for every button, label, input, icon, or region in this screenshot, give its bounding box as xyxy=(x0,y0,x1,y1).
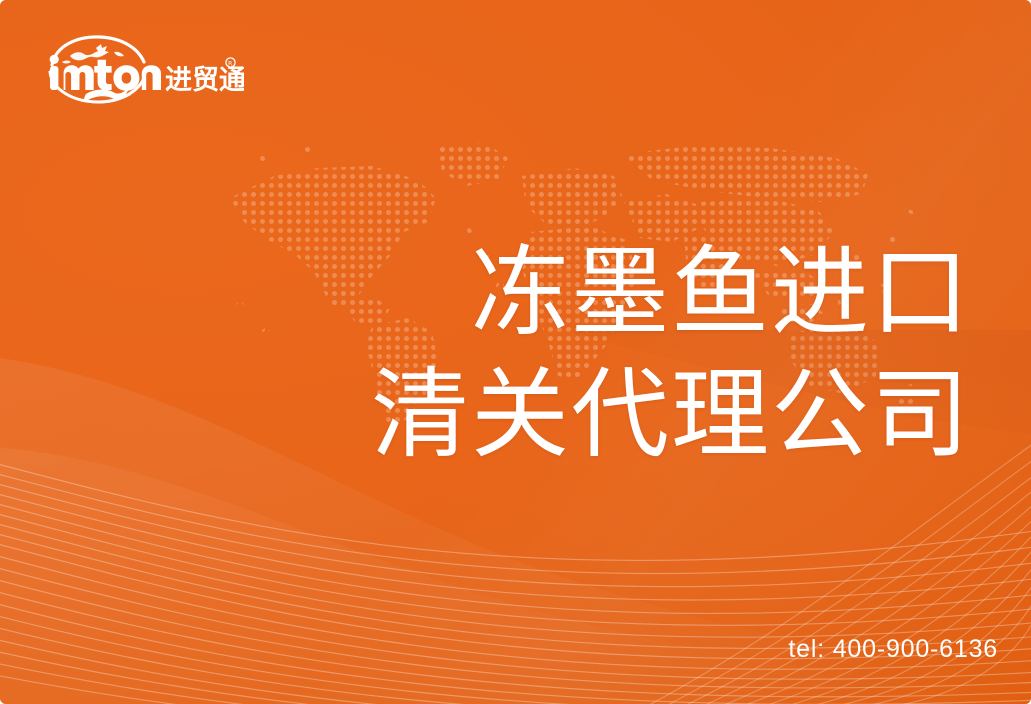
svg-text:R: R xyxy=(228,60,233,67)
globe-landmass-icon xyxy=(62,44,124,64)
contact-phone[interactable]: tel: 400-900-6136 xyxy=(788,635,998,664)
brand-logo[interactable]: 进贸通 R xyxy=(34,32,244,106)
headline-line-1: 冻墨鱼进口 xyxy=(0,231,971,353)
fish-mark-icon xyxy=(84,89,131,101)
logo-wordmark-cn: 进贸通 xyxy=(165,65,244,96)
page-title: 冻墨鱼进口 清关代理公司 xyxy=(0,231,1031,475)
headline-line-2: 清关代理公司 xyxy=(0,353,971,475)
promo-banner: 进贸通 R 冻墨鱼进口 清关代理公司 tel: 400-900-6136 xyxy=(0,0,1031,704)
